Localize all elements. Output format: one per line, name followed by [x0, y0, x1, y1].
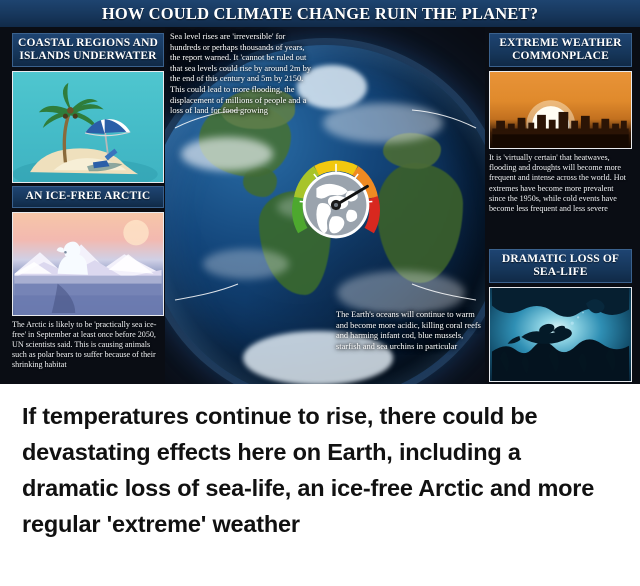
caption-text: If temperatures continue to rise, there … — [22, 398, 618, 542]
page-title: HOW COULD CLIMATE CHANGE RUIN THE PLANET… — [102, 4, 538, 24]
panel-coastal[interactable]: COASTAL REGIONS AND ISLANDS UNDERWATER — [12, 33, 164, 183]
article-caption: If temperatures continue to rise, there … — [0, 384, 640, 586]
panel-extreme-weather[interactable]: EXTREME WEATHER COMMONPLACE — [489, 33, 632, 214]
panel-sea-life-image — [489, 287, 632, 382]
panel-sea-life-heading: DRAMATIC LOSS OF SEA-LIFE — [489, 249, 632, 283]
panel-extreme-weather-image — [489, 71, 632, 149]
panel-sea-life[interactable]: DRAMATIC LOSS OF SEA-LIFE — [489, 249, 632, 382]
panel-coastal-heading: COASTAL REGIONS AND ISLANDS UNDERWATER — [12, 33, 164, 67]
panel-arctic-image — [12, 212, 164, 316]
infographic-title-bar: HOW COULD CLIMATE CHANGE RUIN THE PLANET… — [0, 0, 640, 27]
panel-arctic-heading: AN ICE-FREE ARCTIC — [12, 186, 164, 208]
note-oceans: The Earth's oceans will continue to warm… — [336, 310, 482, 352]
panel-extreme-weather-caption: It is 'virtually certain' that heatwaves… — [489, 153, 632, 214]
panel-arctic[interactable]: AN ICE-FREE ARCTIC — [12, 186, 164, 371]
climate-risk-gauge — [287, 156, 385, 254]
panel-extreme-weather-heading: EXTREME WEATHER COMMONPLACE — [489, 33, 632, 67]
panel-arctic-caption: The Arctic is likely to be 'practically … — [12, 320, 164, 371]
note-sea-level: Sea level rises are 'irreversible' for h… — [170, 32, 312, 117]
panel-coastal-image — [12, 71, 164, 183]
climate-infographic: HOW COULD CLIMATE CHANGE RUIN THE PLANET… — [0, 0, 640, 384]
